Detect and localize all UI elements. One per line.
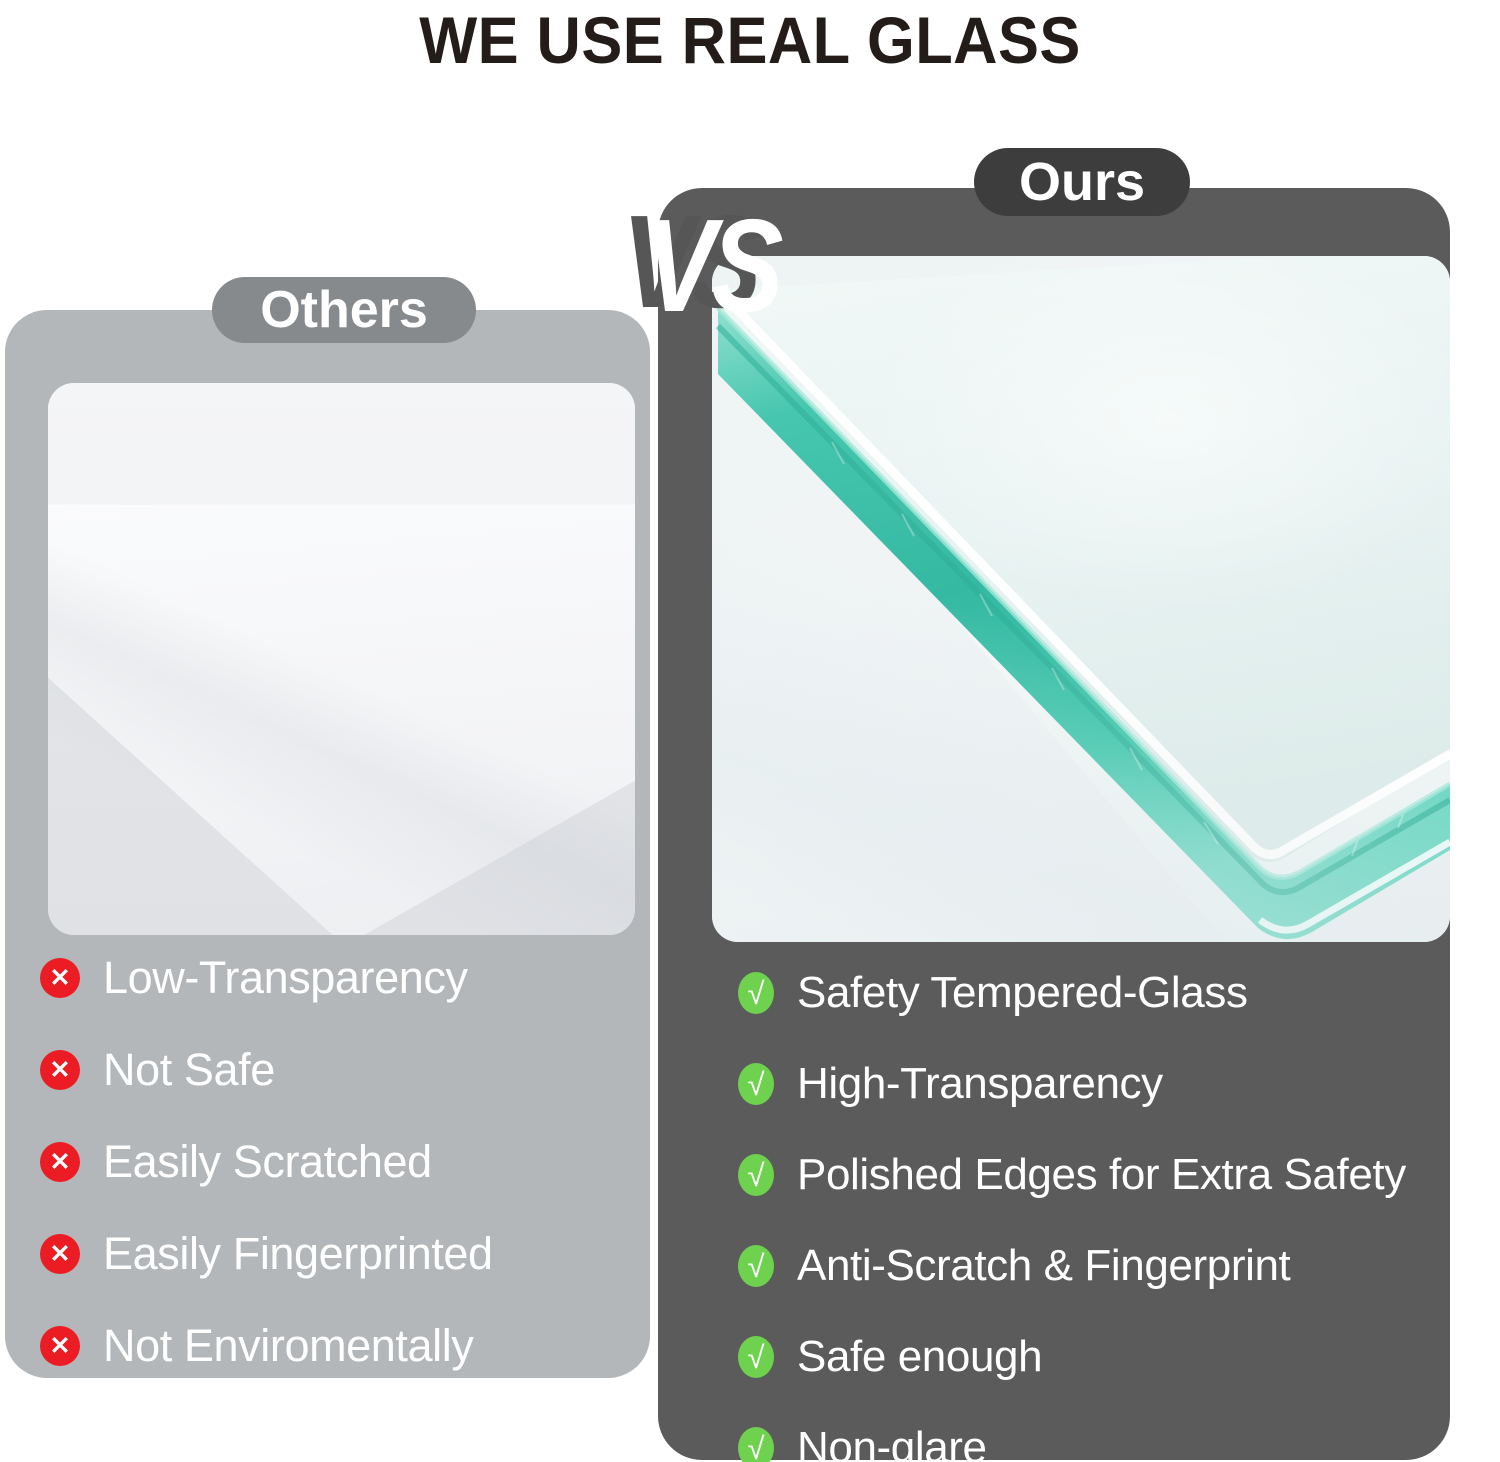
list-item: ✕Not Enviromentally	[40, 1320, 640, 1372]
check-icon: √	[738, 1427, 774, 1462]
list-item-label: Anti-Scratch & Fingerprint	[797, 1241, 1290, 1291]
list-item-label: Easily Fingerprinted	[103, 1228, 493, 1280]
others-feature-list: ✕Low-Transparency✕Not Safe✕Easily Scratc…	[40, 952, 640, 1412]
check-icon: √	[738, 1336, 774, 1378]
list-item: √Safety Tempered-Glass	[738, 968, 1438, 1018]
cross-icon: ✕	[40, 1326, 80, 1366]
list-item: ✕Easily Scratched	[40, 1136, 640, 1188]
check-icon: √	[738, 1154, 774, 1196]
list-item-label: Non-glare	[797, 1423, 987, 1462]
list-item-label: Low-Transparency	[103, 952, 468, 1004]
list-item-label: Safety Tempered-Glass	[797, 968, 1248, 1018]
cross-icon: ✕	[40, 1142, 80, 1182]
list-item: ✕Not Safe	[40, 1044, 640, 1096]
others-product-photo	[48, 383, 635, 935]
list-item-label: Not Enviromentally	[103, 1320, 473, 1372]
cross-icon: ✕	[40, 1234, 80, 1274]
list-item-label: Safe enough	[797, 1332, 1042, 1382]
ours-badge-label: Ours	[1019, 155, 1145, 209]
check-icon: √	[738, 1063, 774, 1105]
list-item: ✕Low-Transparency	[40, 952, 640, 1004]
ours-badge: Ours	[974, 148, 1190, 216]
list-item: √Safe enough	[738, 1332, 1438, 1382]
check-icon: √	[738, 972, 774, 1014]
list-item: √Anti-Scratch & Fingerprint	[738, 1241, 1438, 1291]
list-item-label: Not Safe	[103, 1044, 275, 1096]
list-item-label: Polished Edges for Extra Safety	[797, 1150, 1406, 1200]
list-item: ✕Easily Fingerprinted	[40, 1228, 640, 1280]
versus-marker: VS VS	[622, 196, 832, 326]
list-item: √High-Transparency	[738, 1059, 1438, 1109]
list-item: √Polished Edges for Extra Safety	[738, 1150, 1438, 1200]
list-item-label: High-Transparency	[797, 1059, 1163, 1109]
others-badge: Others	[212, 277, 476, 343]
cross-icon: ✕	[40, 1050, 80, 1090]
page-title: WE USE REAL GLASS	[53, 2, 1448, 78]
ours-feature-list: √Safety Tempered-Glass√High-Transparency…	[738, 968, 1438, 1462]
check-icon: √	[738, 1245, 774, 1287]
cross-icon: ✕	[40, 958, 80, 998]
ours-product-photo	[712, 256, 1450, 942]
others-badge-label: Others	[260, 284, 428, 336]
list-item-label: Easily Scratched	[103, 1136, 432, 1188]
list-item: √Non-glare	[738, 1423, 1438, 1462]
comparison-infographic: WE USE REAL GLASS	[0, 0, 1500, 1462]
versus-text: VS	[644, 200, 779, 332]
